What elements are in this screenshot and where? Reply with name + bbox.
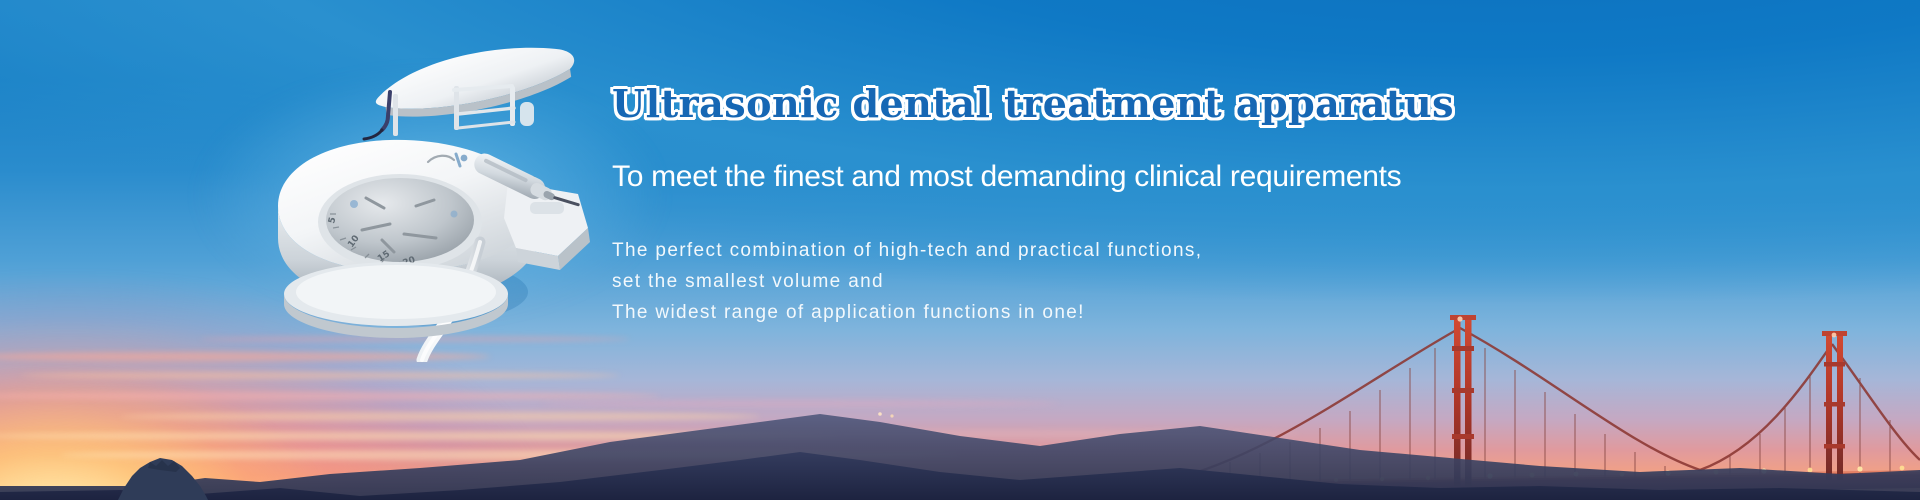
product-banner: 20 15 10 5 [0, 0, 1920, 500]
device-base [284, 262, 508, 338]
description-line: The perfect combination of high-tech and… [612, 235, 1352, 266]
dial-marker [350, 200, 358, 208]
banner-copy: Ultrasonic dental treatment apparatus To… [612, 84, 1352, 328]
page-title: Ultrasonic dental treatment apparatus [612, 84, 1352, 124]
ultrasonic-dental-scaler: 20 15 10 5 [258, 42, 608, 362]
description-line: set the smallest volume and [612, 266, 1352, 297]
banner-subtitle: To meet the finest and most demanding cl… [612, 160, 1352, 193]
device-power-dial [318, 174, 482, 270]
dial-marker [451, 211, 458, 218]
description-line: The widest range of application function… [612, 297, 1352, 328]
banner-description: The perfect combination of high-tech and… [612, 235, 1352, 328]
